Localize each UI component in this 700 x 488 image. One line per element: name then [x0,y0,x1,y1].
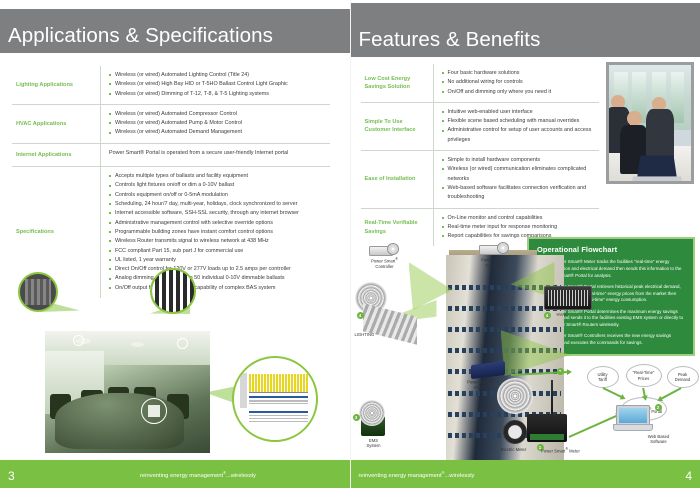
bullet: Wireless (or wired) Automated Demand Man… [109,128,328,137]
label-ps-meter: Power Smart® Meter [535,447,587,454]
tagline-tail: ...wirelessly [226,473,256,479]
bullet: Four basic hardware solutions [442,69,597,78]
page-features-benefits: Features & Benefits Low Cost Energy Savi… [350,0,700,488]
electric-meter-device [503,420,527,444]
row-items: Intuitive web-enabled user interface Fle… [433,103,599,150]
bullet: Flexible scene based scheduling with man… [442,117,597,126]
bullet: Scheduling, 24 hour/7 day, multi-year, h… [109,200,328,209]
flow-arrow [602,387,623,399]
row-plain-text: Power Smart® Portal is operated from a s… [109,149,328,158]
label-ems: EMSSystem [357,438,391,449]
bullet: Administrative management control with s… [109,219,328,228]
page-title-right: Features & Benefits [359,28,541,52]
fluorescent-lamps-icon [150,268,196,314]
label-controller-right: Power Smart®Controller [471,256,519,268]
bullet: On-Line monitor and control capabilities [442,214,597,223]
table-row: Simple To Use Customer Interface Intuiti… [361,103,599,151]
step-marker: 3 [353,414,360,421]
tagline-text: reinventing energy management [140,473,223,479]
callout-marker [73,335,84,346]
flow-arrow [568,414,618,438]
callout-marker [177,338,188,349]
page-applications-specifications: Applications & Specifications Lighting A… [0,0,350,488]
table-row: Lighting Applications Wireless (or wired… [12,66,330,105]
bullet: Wireless (or wired) Dimming of T-12, T-8… [109,90,328,99]
antenna-icon [497,242,509,254]
bullet: UL listed, 1 year warranty [109,256,328,265]
row-items: Accepts multiple types of ballasts and f… [100,167,330,298]
hvac-unit [544,286,592,310]
step-marker: 4 [544,312,551,319]
flow-arrow [641,388,645,398]
label-lighting: LIGHTING [355,332,395,337]
bullet: Web-based software facilitates connectio… [442,184,597,203]
row-category: Lighting Applications [12,66,100,104]
bullet: On/Off and dimming only where you need i… [442,88,597,97]
row-category: Low Cost Energy Savings Solution [361,64,433,102]
bullet: Direct On/Off control for 120V or 277V l… [109,265,328,274]
row-category: HVAC Applications [12,105,100,143]
label-electric-meter: Electric Meter [493,447,535,452]
label-hvac: HVAC [557,312,587,317]
step-marker: 2 [655,404,662,411]
step-marker: 4 [357,312,364,319]
flow-arrow [659,387,681,400]
row-category: Simple To Use Customer Interface [361,103,433,150]
portal-dashboard-icon [232,356,318,442]
bullet: No additional wiring for controls [442,78,597,87]
tagline-text: reinventing energy management [359,473,442,479]
bullet: Wireless (or wired) High Bay HID or T-5H… [109,80,328,89]
bullet: Administrative control for setup of user… [442,126,597,145]
row-items: Power Smart® Portal is operated from a s… [100,144,330,166]
bullet: Wireless (or wired) Automated Compressor… [109,110,328,119]
row-items: Wireless (or wired) Automated Compressor… [100,105,330,143]
light-fixture [363,303,417,344]
bullet: Programmable building zones have instant… [109,228,328,237]
row-items: Four basic hardware solutions No additio… [433,64,599,102]
bullet: Wireless (or wired) Automated Lighting C… [109,71,328,80]
bullet: On/Off output for simple override capabi… [109,284,328,293]
bullet: Simple to install hardware components [442,156,597,165]
conference-room-photo [45,331,210,453]
label-router: Power Smart®Router [457,378,505,390]
bullet: Controls equipment on/off or 0-5mA modul… [109,191,328,200]
web-software-laptop [613,405,651,431]
brochure-spread: Applications & Specifications Lighting A… [0,0,700,488]
business-team-photo [606,62,694,184]
bullet: Wireless (or wired) communication elimin… [442,165,597,184]
tagline-left: reinventing energy management®...wireles… [140,471,256,479]
row-category: Ease of Installation [361,151,433,207]
bullet: Controls light fixtures on/off or dim a … [109,181,328,190]
cloud-utility-tariff: UtilityTariff [587,366,619,388]
page-title-left: Applications & Specifications [8,24,273,48]
bullet: Accepts multiple types of ballasts and f… [109,172,328,181]
cloud-realtime-prices: "Real-Time"Prices [626,364,662,387]
bullet: Real-time meter input for response monit… [442,223,597,232]
row-items: Wireless (or wired) Automated Lighting C… [100,66,330,104]
row-category: Real-Time Verifiable Savings [361,209,433,247]
table-row: Low Cost Energy Savings Solution Four ba… [361,64,599,103]
step-text: The Power Smart® Meter tracks the facili… [545,259,681,278]
antenna-icon [387,243,399,255]
label-controller-left: Power Smart®Controller [361,257,409,269]
wireless-rings-icon [359,400,385,426]
tagline-right: reinventing energy management®...wireles… [359,471,475,479]
power-smart-meter-device [527,414,567,442]
step-text: The Power Smart® Controllers receives th… [545,333,671,345]
bullet: Internet accessible software, SSH-SSL se… [109,209,328,218]
ballast-grid-icon [18,272,58,312]
label-web-software: Web BasedSoftware [637,434,681,445]
bullet: Wireless Router transmits signal to wire… [109,237,328,246]
flowchart-title: Operational Flowchart [537,245,686,254]
applications-table: Lighting Applications Wireless (or wired… [12,66,330,298]
row-category: Internet Applications [12,144,100,166]
bullet: Wireless (or wired) Automated Pump & Mot… [109,119,328,128]
page-number-right: 4 [685,469,692,483]
page-number-left: 3 [8,469,15,483]
callout-marker [141,398,167,424]
wireless-rings-icon [497,378,533,414]
table-row: HVAC Applications Wireless (or wired) Au… [12,105,330,144]
row-items: Simple to install hardware components Wi… [433,151,599,207]
tagline-tail: ...wirelessly [444,473,474,479]
features-table: Low Cost Energy Savings Solution Four ba… [361,64,599,246]
bullet: FCC compliant Part 15, sub part J for co… [109,247,328,256]
bullet: Analog dimming control for up to 50 indi… [109,274,328,283]
bullet: Intuitive web-enabled user interface [442,108,597,117]
table-row: Internet Applications Power Smart® Porta… [12,144,330,167]
cloud-peak-demand: PeakDemand [667,366,699,388]
table-row: Ease of Installation Simple to install h… [361,151,599,208]
